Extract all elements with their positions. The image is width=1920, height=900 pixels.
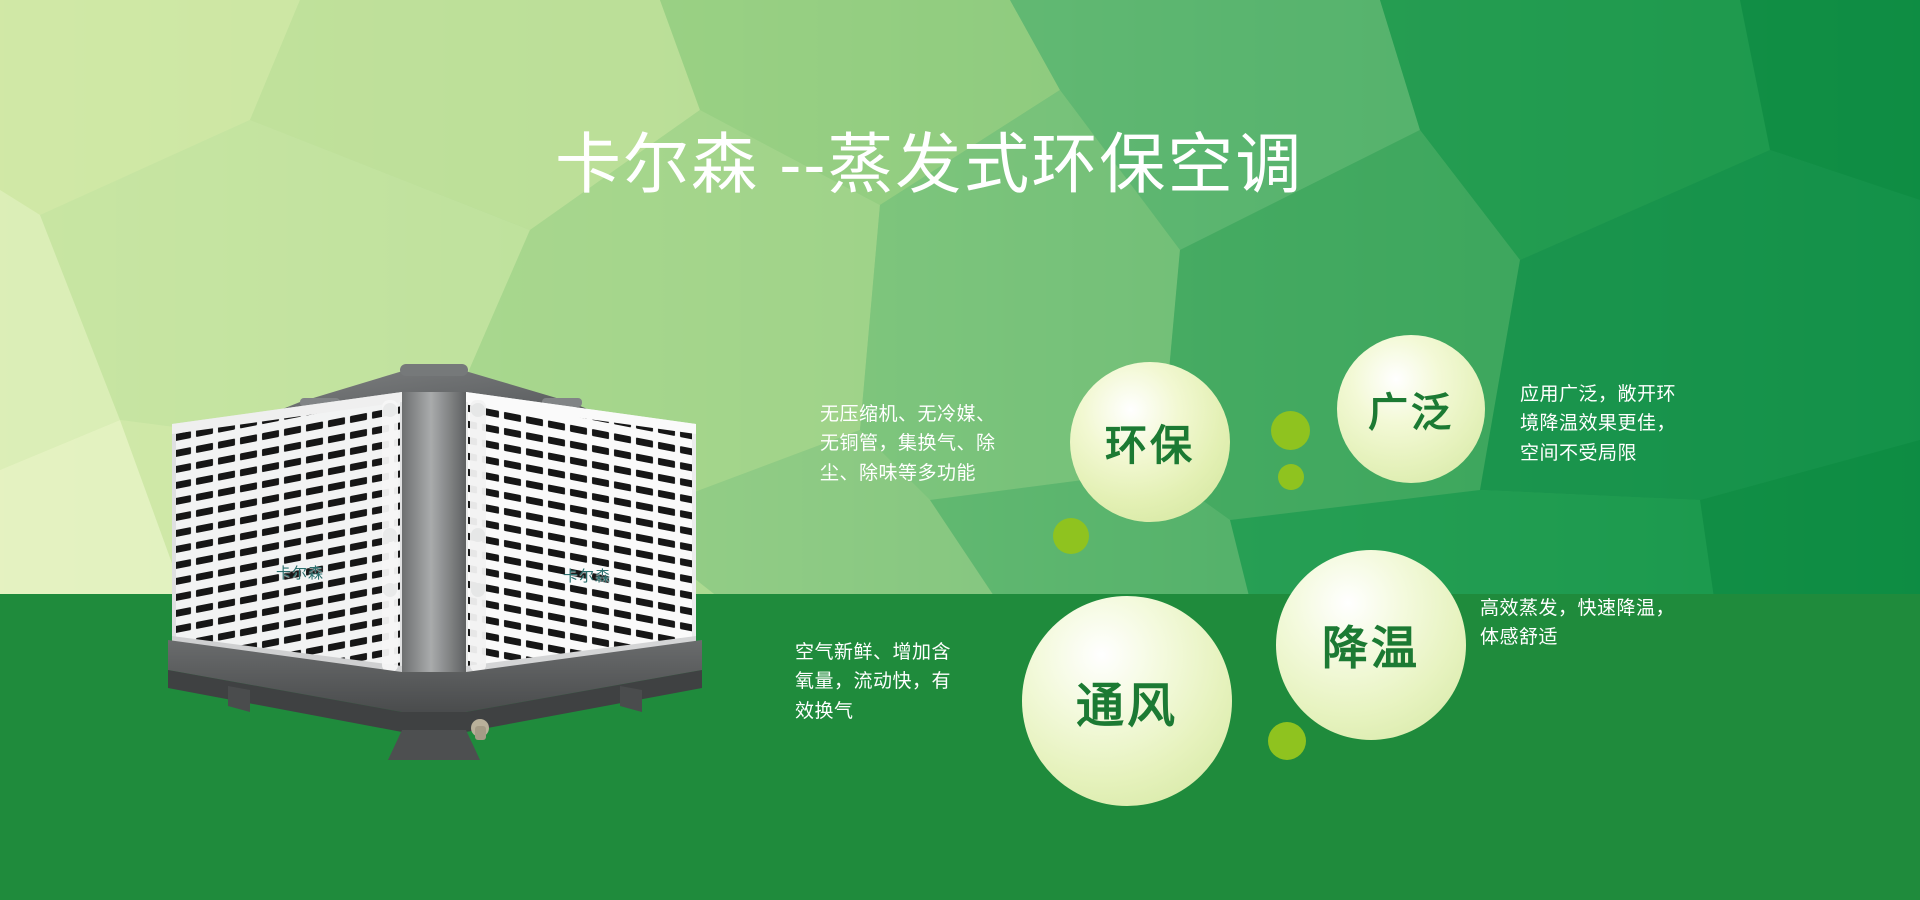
feature-bubble-tongfeng[interactable]: 通风 [1022, 596, 1232, 806]
accent-dot-4 [1268, 722, 1306, 760]
accent-dot-1 [1271, 411, 1310, 450]
feature-bubble-jiangwen[interactable]: 降温 [1276, 550, 1466, 740]
page-title: 卡尔森 --蒸发式环保空调 [555, 130, 1303, 199]
accent-dot-3 [1053, 518, 1089, 554]
accent-dot-2 [1278, 464, 1304, 490]
feature-description-guangfan: 应用广泛，敞开环 境降温效果更佳， 空间不受局限 [1520, 380, 1760, 468]
product-image-air-cooler: 卡尔森 卡尔森 [150, 340, 720, 760]
feature-bubble-guangfan[interactable]: 广泛 [1337, 335, 1485, 483]
feature-bubble-huanbao[interactable]: 环保 [1070, 362, 1230, 522]
promo-banner: 卡尔森 --蒸发式环保空调 [0, 0, 1920, 900]
feature-description-jiangwen: 高效蒸发，快速降温， 体感舒适 [1480, 594, 1730, 653]
feature-description-tongfeng: 空气新鲜、增加含 氧量，流动快，有 效换气 [795, 638, 1010, 726]
feature-description-huanbao: 无压缩机、无冷媒、 无铜管，集换气、除 尘、除味等多功能 [820, 400, 1060, 488]
